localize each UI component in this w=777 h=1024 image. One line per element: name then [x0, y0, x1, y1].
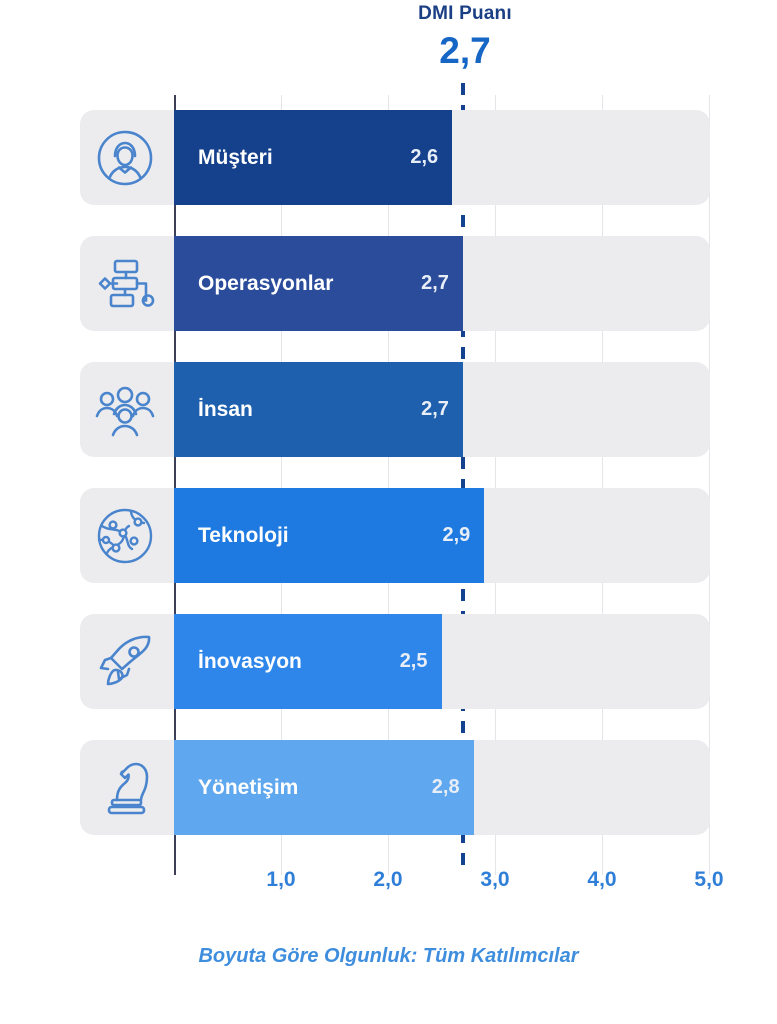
- x-tick-label: 5,0: [679, 868, 739, 892]
- bar-label: Operasyonlar: [198, 272, 333, 296]
- bar-value: 2,7: [421, 272, 449, 295]
- people-group-icon: [93, 378, 157, 442]
- bar[interactable]: Teknoloji2,9: [174, 488, 484, 583]
- x-tick-label: 4,0: [572, 868, 632, 892]
- bar-value: 2,6: [410, 146, 438, 169]
- bar-row: Yönetişim2,8: [0, 740, 777, 835]
- bar[interactable]: İnsan2,7: [174, 362, 463, 457]
- bar-value: 2,5: [400, 650, 428, 673]
- network-globe-icon: [93, 504, 157, 568]
- process-flow-icon: [93, 252, 157, 316]
- rocket-icon: [93, 630, 157, 694]
- bar-row: İnsan2,7: [0, 362, 777, 457]
- bar[interactable]: Yönetişim2,8: [174, 740, 474, 835]
- bar-label: Teknoloji: [198, 524, 289, 548]
- bar-value: 2,7: [421, 398, 449, 421]
- bar-row: İnovasyon2,5: [0, 614, 777, 709]
- customer-avatar-icon: [93, 126, 157, 190]
- chart-plot-area: Müşteri2,6Operasyonlar2,7İnsan2,7Teknolo…: [0, 95, 777, 885]
- chess-knight-icon: [93, 756, 157, 820]
- bar-value: 2,8: [432, 776, 460, 799]
- bar[interactable]: İnovasyon2,5: [174, 614, 442, 709]
- bar-label: Yönetişim: [198, 776, 298, 800]
- chart-title: DMI Puanı: [340, 2, 590, 26]
- bar-row: Müşteri2,6: [0, 110, 777, 205]
- chart-caption: Boyuta Göre Olgunluk: Tüm Katılımcılar: [0, 945, 777, 968]
- bar-label: Müşteri: [198, 146, 273, 170]
- x-tick-label: 1,0: [251, 868, 311, 892]
- x-tick-label: 2,0: [358, 868, 418, 892]
- overall-score-value: 2,7: [340, 28, 590, 74]
- bar-label: İnovasyon: [198, 650, 302, 674]
- chart-header: DMI Puanı 2,7: [340, 2, 590, 74]
- bar-value: 2,9: [442, 524, 470, 547]
- x-axis-tick-labels: 1,02,03,04,05,0: [0, 868, 777, 908]
- bar[interactable]: Operasyonlar2,7: [174, 236, 463, 331]
- bar-row: Operasyonlar2,7: [0, 236, 777, 331]
- bar[interactable]: Müşteri2,6: [174, 110, 452, 205]
- x-tick-label: 3,0: [465, 868, 525, 892]
- bar-label: İnsan: [198, 398, 253, 422]
- bar-row: Teknoloji2,9: [0, 488, 777, 583]
